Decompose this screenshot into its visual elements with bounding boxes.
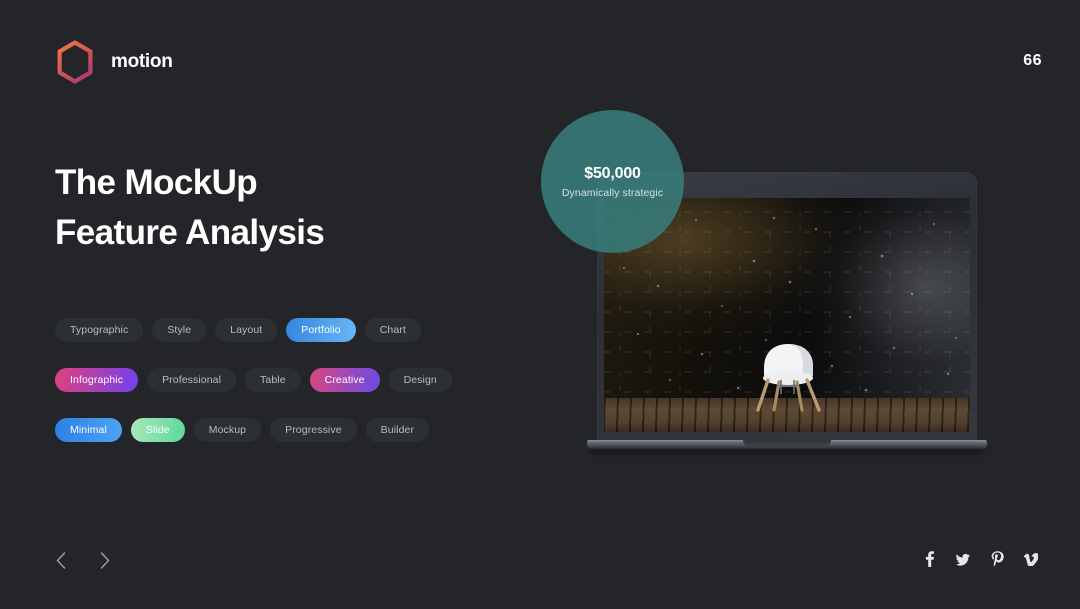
feature-tag-list: Typographic Style Layout Portfolio Chart… xyxy=(55,318,525,468)
twitter-icon xyxy=(956,553,970,566)
brand-logo[interactable]: motion xyxy=(55,40,173,84)
page-number: 66 xyxy=(1023,52,1042,70)
tag-row-1: Typographic Style Layout Portfolio Chart xyxy=(55,318,525,342)
tag-slide[interactable]: Slide xyxy=(131,418,185,442)
headline-line-1: The MockUp xyxy=(55,163,257,202)
tag-design[interactable]: Design xyxy=(389,368,452,392)
tag-infographic[interactable]: Infographic xyxy=(55,368,138,392)
facebook-link[interactable] xyxy=(922,551,936,567)
tag-creative[interactable]: Creative xyxy=(310,368,380,392)
tag-mockup[interactable]: Mockup xyxy=(194,418,261,442)
tag-table[interactable]: Table xyxy=(245,368,301,392)
page-title: The MockUp Feature Analysis xyxy=(55,158,515,257)
tag-layout[interactable]: Layout xyxy=(215,318,277,342)
pinterest-link[interactable] xyxy=(990,551,1004,567)
slide-header: motion 66 xyxy=(0,0,1080,110)
vimeo-icon xyxy=(1024,553,1038,566)
laptop-base-notch xyxy=(743,440,831,447)
next-slide-button[interactable] xyxy=(94,549,116,571)
badge-label: Dynamically strategic xyxy=(562,187,663,199)
laptop-mockup: $50,000 Dynamically strategic xyxy=(540,100,1040,480)
brand-name: motion xyxy=(111,51,173,73)
laptop-base xyxy=(587,440,987,454)
twitter-link[interactable] xyxy=(956,551,970,567)
prev-slide-button[interactable] xyxy=(50,549,72,571)
pinterest-icon xyxy=(991,551,1004,567)
tag-chart[interactable]: Chart xyxy=(365,318,421,342)
tag-row-2: Infographic Professional Table Creative … xyxy=(55,368,525,392)
vimeo-link[interactable] xyxy=(1024,551,1038,567)
tag-row-3: Minimal Slide Mockup Progressive Builder xyxy=(55,418,525,442)
hexagon-logo-icon xyxy=(55,40,95,84)
chevron-left-icon xyxy=(56,552,66,569)
badge-value: $50,000 xyxy=(584,165,640,183)
status-badge: $50,000 Dynamically strategic xyxy=(541,110,684,253)
tag-builder[interactable]: Builder xyxy=(366,418,429,442)
facebook-icon xyxy=(925,551,934,567)
chevron-right-icon xyxy=(100,552,110,569)
tag-progressive[interactable]: Progressive xyxy=(270,418,357,442)
white-chair-icon xyxy=(741,330,833,412)
headline-line-2: Feature Analysis xyxy=(55,208,515,258)
tag-minimal[interactable]: Minimal xyxy=(55,418,122,442)
tag-style[interactable]: Style xyxy=(152,318,206,342)
headline-block: The MockUp Feature Analysis xyxy=(55,158,515,257)
tag-portfolio[interactable]: Portfolio xyxy=(286,318,355,342)
tag-typographic[interactable]: Typographic xyxy=(55,318,143,342)
slide-navigation xyxy=(50,549,116,571)
laptop-base-shadow xyxy=(591,449,983,456)
social-links xyxy=(922,551,1038,567)
tag-professional[interactable]: Professional xyxy=(147,368,236,392)
